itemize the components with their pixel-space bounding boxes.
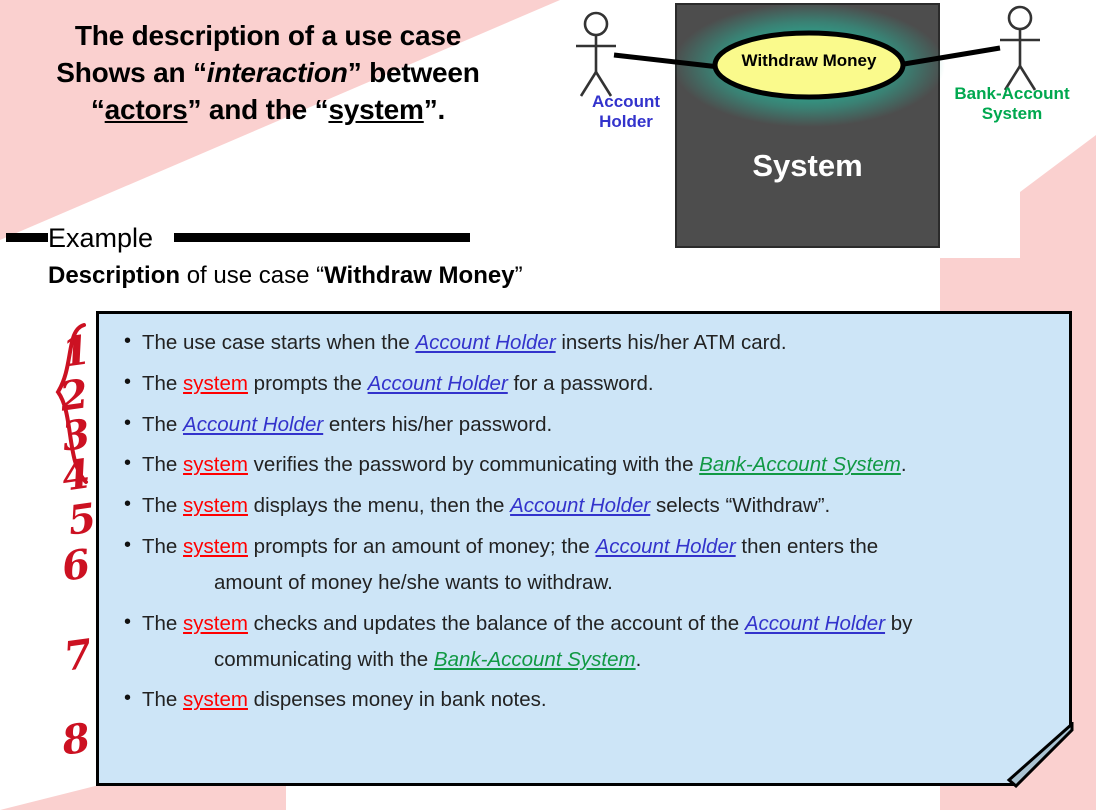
use-case-step-list: •The use case starts when the Account Ho… — [120, 330, 1060, 728]
headline-line-3: “actors” and the “system”. — [8, 92, 528, 129]
step-text: amount of money he/she wants to withdraw… — [214, 571, 613, 594]
example-divider: Example — [0, 218, 490, 260]
headline-line3-part-b: ” and the “ — [188, 94, 329, 125]
step-text: The — [142, 372, 183, 395]
bank-account-system-term: Bank-Account System — [699, 453, 901, 476]
actor-right-figure — [1000, 7, 1040, 90]
system-term: system — [183, 494, 248, 517]
step-continuation-line: amount of money he/she wants to withdraw… — [142, 570, 1060, 596]
step-text: communicating with the — [214, 648, 434, 671]
use-case-step: •The system prompts for an amount of mon… — [120, 534, 1060, 596]
step-text: inserts his/her ATM card. — [556, 331, 787, 354]
handwritten-number-8: 8 — [53, 713, 99, 765]
system-term: system — [183, 688, 248, 711]
handwritten-number-2: 2 — [51, 369, 97, 421]
headline-line3-part-a: “ — [91, 94, 105, 125]
slide-headline: The description of a use case Shows an “… — [8, 18, 528, 129]
handwritten-number-7: 7 — [55, 629, 101, 681]
headline-line2-part-a: Shows an “ — [56, 57, 206, 88]
handwritten-number-1: 1 — [53, 325, 99, 377]
actor-left-caption-line1: Account — [546, 92, 706, 112]
account-holder-term: Account Holder — [183, 413, 323, 436]
headline-line2-part-b: ” between — [348, 57, 480, 88]
step-text: for a password. — [508, 372, 654, 395]
system-term: system — [183, 535, 248, 558]
handwritten-number-4: 4 — [53, 449, 99, 501]
step-text: The use case starts when the — [142, 331, 415, 354]
account-holder-term: Account Holder — [596, 535, 736, 558]
step-text: prompts for an amount of money; the — [248, 535, 596, 558]
step-text: enters his/her password. — [323, 413, 552, 436]
description-caption-suffix: ” — [515, 262, 523, 289]
example-label: Example — [48, 218, 153, 258]
use-case-step: •The system dispenses money in bank note… — [120, 687, 1060, 713]
use-case-diagram: Withdraw Money System Account Holder Ban… — [548, 0, 1096, 258]
use-case-step: •The Account Holder enters his/her passw… — [120, 412, 1060, 438]
bullet-dot-icon: • — [124, 370, 131, 395]
system-term: system — [183, 612, 248, 635]
step-text: dispenses money in bank notes. — [248, 688, 547, 711]
curly-brace — [58, 325, 86, 482]
step-text: . — [901, 453, 907, 476]
use-case-step: •The system checks and updates the balan… — [120, 611, 1060, 673]
headline-actors-emphasis: actors — [105, 94, 188, 125]
step-text: displays the menu, then the — [248, 494, 510, 517]
step-text: prompts the — [248, 372, 368, 395]
system-boundary-label: System — [675, 148, 940, 184]
bullet-dot-icon: • — [124, 492, 131, 517]
bullet-dot-icon: • — [124, 451, 131, 476]
description-caption-usecase: Withdraw Money — [324, 262, 514, 289]
step-text: The — [142, 612, 183, 635]
headline-system-emphasis: system — [328, 94, 423, 125]
use-case-step: •The system displays the menu, then the … — [120, 493, 1060, 519]
usecase-label: Withdraw Money — [716, 51, 902, 71]
account-holder-term: Account Holder — [510, 494, 650, 517]
step-text: The — [142, 535, 183, 558]
actor-right-caption-line1: Bank-Account — [932, 84, 1092, 104]
description-caption-middle: of use case “ — [180, 262, 324, 289]
system-term: system — [183, 372, 248, 395]
step-text: then enters the — [736, 535, 878, 558]
headline-line-2: Shows an “interaction” between — [8, 55, 528, 92]
step-text: The — [142, 453, 183, 476]
account-holder-term: Account Holder — [745, 612, 885, 635]
bullet-dot-icon: • — [124, 533, 131, 558]
step-text: . — [636, 648, 642, 671]
example-divider-bar-right — [174, 233, 470, 242]
headline-interaction-emphasis: interaction — [207, 57, 348, 88]
step-text: The — [142, 494, 183, 517]
actor-left-figure — [576, 13, 616, 96]
account-holder-term: Account Holder — [368, 372, 508, 395]
bullet-dot-icon: • — [124, 329, 131, 354]
use-case-step: •The use case starts when the Account Ho… — [120, 330, 1060, 356]
folded-corner — [1006, 722, 1074, 788]
step-text: checks and updates the balance of the ac… — [248, 612, 745, 635]
description-caption: Description of use case “Withdraw Money” — [48, 262, 523, 290]
step-text: The — [142, 688, 183, 711]
step-text: verifies the password by communicating w… — [248, 453, 699, 476]
actor-left-caption-line2: Holder — [546, 112, 706, 132]
slide-canvas: The description of a use case Shows an “… — [0, 0, 1096, 810]
use-case-step: •The system prompts the Account Holder f… — [120, 371, 1060, 397]
bank-account-system-term: Bank-Account System — [434, 648, 636, 671]
bullet-dot-icon: • — [124, 610, 131, 635]
bullet-dot-icon: • — [124, 411, 131, 436]
account-holder-term: Account Holder — [415, 331, 555, 354]
step-text: selects “Withdraw”. — [650, 494, 830, 517]
actor-left-caption: Account Holder — [546, 92, 706, 131]
system-term: system — [183, 453, 248, 476]
use-case-step: •The system verifies the password by com… — [120, 452, 1060, 478]
bullet-dot-icon: • — [124, 686, 131, 711]
step-text: The — [142, 413, 183, 436]
actor-right-caption: Bank-Account System — [932, 84, 1092, 123]
actor-right-caption-line2: System — [932, 104, 1092, 124]
handwritten-number-6: 6 — [53, 539, 99, 591]
headline-line3-part-c: ”. — [424, 94, 445, 125]
step-continuation-line: communicating with the Bank-Account Syst… — [142, 647, 1060, 673]
step-text: by — [885, 612, 912, 635]
headline-line-1: The description of a use case — [8, 18, 528, 55]
description-caption-prefix: Description — [48, 262, 180, 289]
handwritten-number-3: 3 — [53, 409, 99, 461]
example-divider-bar-left — [6, 233, 48, 242]
